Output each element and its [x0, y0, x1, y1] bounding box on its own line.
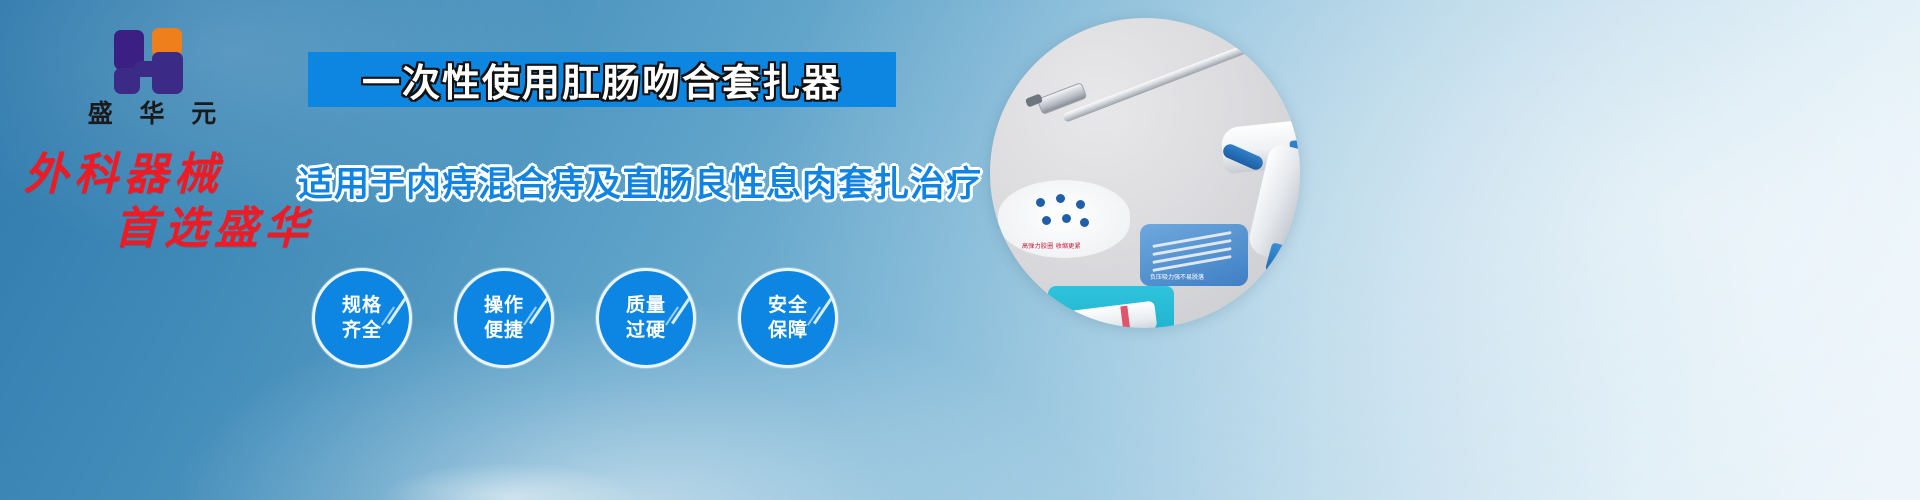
feature-badge-quality[interactable]: 质量 过硬 — [596, 268, 696, 368]
ring-dot — [1042, 216, 1051, 225]
inset-rubber-rings: 高弹力胶圈 收缩更紧 — [998, 180, 1130, 258]
brand-logo: 盛 华 元 — [62, 28, 242, 128]
ring-dot — [1062, 214, 1071, 223]
feature-badge-specifications[interactable]: 规格 齐全 — [312, 268, 412, 368]
inset-caption: 负压吸力强不易脱落 — [1150, 272, 1204, 281]
feature-badge-list: 规格 齐全 操作 便捷 质量 过硬 安全 保障 — [312, 268, 838, 368]
feature-badge-line-2: 保障 — [768, 318, 808, 343]
product-photo: 高弹力胶圈 收缩更紧 负压吸力强不易脱落 — [990, 18, 1300, 328]
page-title: 一次性使用肛肠吻合套扎器 — [362, 52, 842, 107]
tube-body — [1065, 301, 1158, 328]
slogan-line-2: 首选盛华 — [18, 202, 348, 256]
brand-blocks-logo-icon — [106, 28, 198, 96]
inset-ligation-tube — [1048, 286, 1174, 328]
device-shaft — [1062, 44, 1248, 123]
logo-block-bottom-left — [114, 68, 140, 94]
brand-name: 盛 华 元 — [62, 100, 242, 128]
ring-dot — [1056, 194, 1065, 203]
subtitle: 适用于内痔混合痔及直肠良性息肉套扎治疗 — [298, 156, 908, 207]
feature-badge-line-1: 质量 — [626, 293, 666, 318]
feature-badge-safety[interactable]: 安全 保障 — [738, 268, 838, 368]
promo-banner: 盛 华 元 外科器械 首选盛华 一次性使用肛肠吻合套扎器 适用于内痔混合痔及直肠… — [0, 0, 1920, 500]
feature-badge-line-1: 操作 — [484, 293, 524, 318]
background-reflection-ellipse — [380, 462, 640, 500]
ring-dot — [1036, 198, 1045, 207]
inset-caption: 高弹力胶圈 收缩更紧 — [1022, 241, 1081, 250]
headline-bar: 一次性使用肛肠吻合套扎器 — [308, 52, 896, 107]
needle — [1152, 255, 1231, 272]
ring-dot — [1076, 200, 1085, 209]
feature-badge-line-1: 规格 — [342, 293, 382, 318]
feature-badge-line-2: 齐全 — [342, 318, 382, 343]
inset-needle-set: 负压吸力强不易脱落 — [1140, 224, 1248, 286]
feature-badge-line-2: 便捷 — [484, 318, 524, 343]
feature-badge-line-1: 安全 — [768, 293, 808, 318]
feature-badge-line-2: 过硬 — [626, 318, 666, 343]
ring-dot — [1080, 218, 1089, 227]
feature-badge-operation[interactable]: 操作 便捷 — [454, 268, 554, 368]
